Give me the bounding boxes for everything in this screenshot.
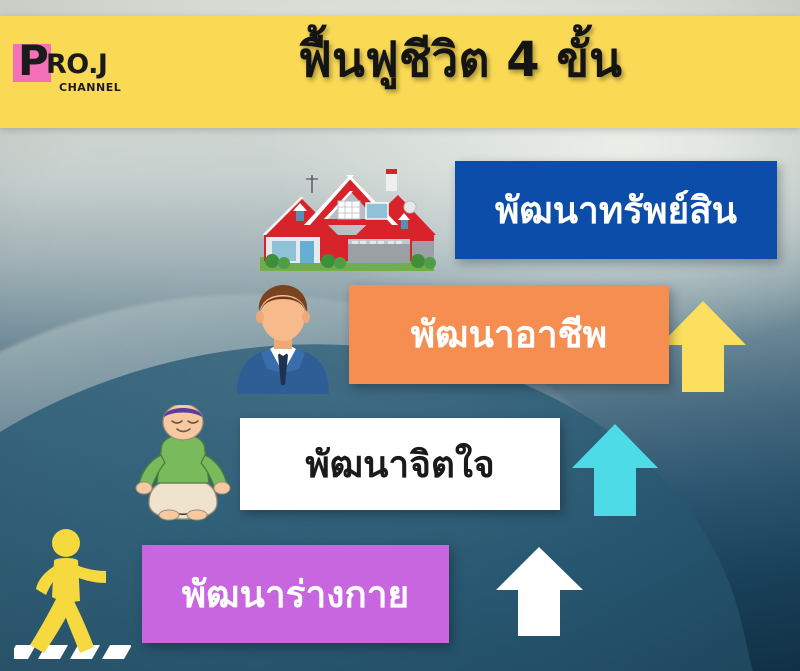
businessman-icon xyxy=(223,277,343,394)
logo-subtitle: CHANNEL xyxy=(59,81,121,94)
step-label-assets: พัฒนาทรัพย์สิน xyxy=(495,192,737,229)
page-title: ฟื้นฟูชีวิต 4 ขั้น xyxy=(150,30,770,90)
up-arrow-icon xyxy=(572,424,658,516)
step-bar-mind[interactable]: พัฒนาจิตใจ xyxy=(240,418,560,510)
brand-logo: P RO.J CHANNEL xyxy=(13,44,119,102)
infographic-canvas: ฟื้นฟูชีวิต 4 ขั้น P RO.J CHANNEL xyxy=(0,0,800,671)
meditation-icon xyxy=(131,405,235,530)
up-arrow-icon xyxy=(660,301,746,392)
step-label-body: พัฒนาร่างกาย xyxy=(182,576,409,613)
step-bar-body[interactable]: พัฒนาร่างกาย xyxy=(142,545,449,643)
logo-wordmark: RO.J xyxy=(46,50,107,80)
pedestrian-crossing-icon xyxy=(14,527,131,663)
house-icon xyxy=(252,157,442,275)
step-label-career: พัฒนาอาชีพ xyxy=(411,316,607,353)
up-arrow-icon xyxy=(496,547,583,636)
logo-letter-p: P xyxy=(18,37,49,85)
step-bar-career[interactable]: พัฒนาอาชีพ xyxy=(349,285,669,384)
step-label-mind: พัฒนาจิตใจ xyxy=(305,446,494,483)
step-bar-assets[interactable]: พัฒนาทรัพย์สิน xyxy=(455,161,777,259)
